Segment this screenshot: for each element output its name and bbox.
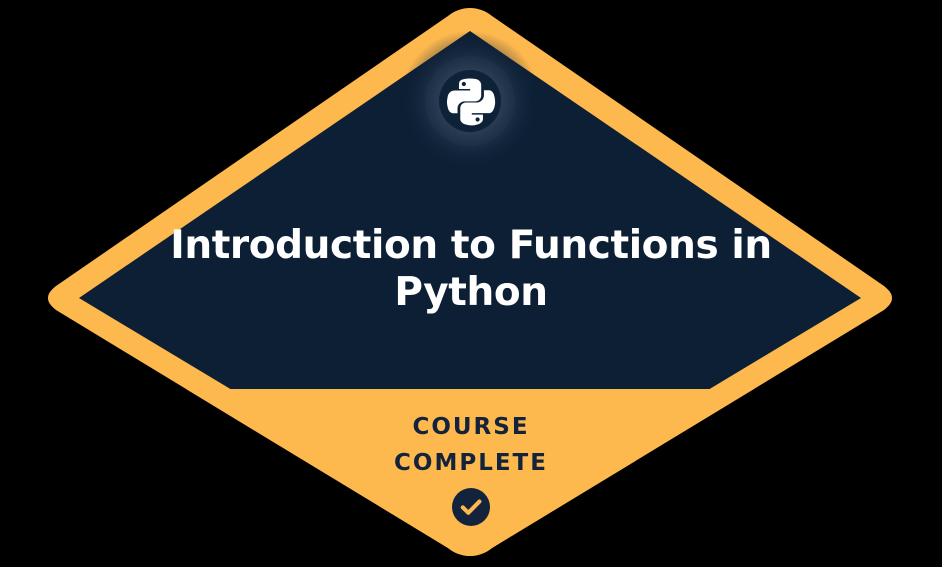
course-title: Introduction to Functions in Python [0,222,942,316]
status-badge: COURSE COMPLETE [0,409,942,481]
check-circle-bg [452,488,490,526]
completion-status-block: COURSE COMPLETE [0,409,942,527]
check-circle-icon [451,487,491,527]
check-badge-wrap [0,487,942,527]
course-completion-badge: Introduction to Functions in Python COUR… [0,0,942,567]
